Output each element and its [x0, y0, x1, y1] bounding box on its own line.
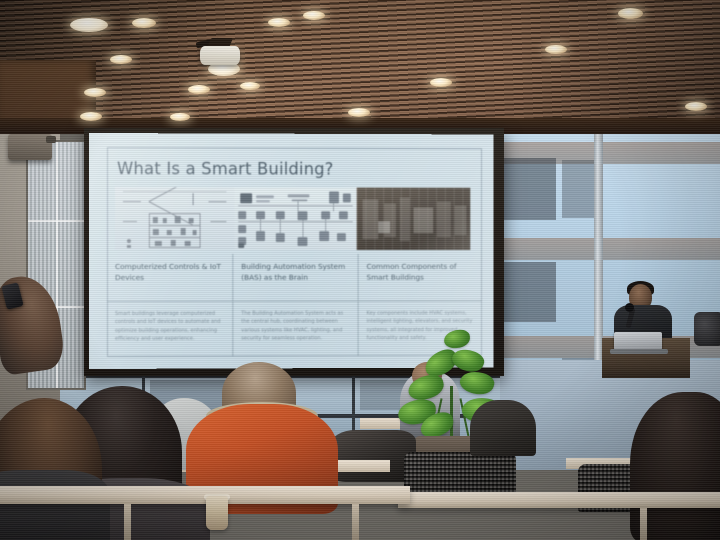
table-leg	[352, 504, 359, 540]
long-table-right	[398, 492, 720, 508]
ceiling-light	[188, 85, 210, 94]
ceiling-light	[303, 11, 325, 20]
ceiling-projector	[200, 46, 240, 65]
coffee-cup	[206, 496, 228, 530]
slide-column: Computerized Controls & IoT Devices Smar…	[107, 254, 233, 357]
laptop-base	[610, 349, 668, 354]
bas-network-diagram	[234, 187, 356, 250]
laptop	[614, 332, 662, 350]
camera-on-tripod	[694, 312, 720, 346]
column-body: Smart buildings leverage computerized co…	[107, 302, 232, 351]
slide-title: What Is a Smart Building?	[117, 159, 334, 178]
column-heading: Building Automation System (BAS) as the …	[233, 254, 357, 302]
column-heading: Common Components of Smart Buildings	[359, 254, 482, 302]
ceiling-light	[430, 78, 452, 87]
ceiling-light	[348, 108, 370, 117]
conference-room-scene: What Is a Smart Building?	[0, 0, 720, 540]
column-heading: Computerized Controls & IoT Devices	[107, 254, 232, 302]
ceiling-light	[84, 88, 106, 97]
presentation-slide: What Is a Smart Building?	[89, 133, 494, 369]
microphone-head	[625, 303, 634, 312]
attendee-foreground-left-body	[0, 470, 110, 540]
ceiling-light	[80, 112, 102, 121]
ceiling-light	[132, 18, 156, 28]
ceiling-light	[268, 18, 290, 27]
ceiling-light	[110, 55, 132, 64]
ceiling-light	[70, 18, 108, 32]
ceiling-light	[618, 8, 643, 19]
lounge-chair	[470, 400, 536, 456]
speaker-bracket	[46, 136, 56, 143]
column-body: The Building Automation System acts as t…	[233, 302, 357, 351]
ceiling-light	[240, 82, 260, 90]
ceiling-light	[545, 45, 567, 54]
ceiling-light	[170, 113, 190, 121]
ceiling-light	[685, 102, 707, 111]
slide-column: Building Automation System (BAS) as the …	[233, 254, 358, 357]
projection-screen: What Is a Smart Building?	[89, 133, 494, 369]
table-leg	[640, 508, 647, 540]
house-cross-section-diagram	[115, 187, 234, 250]
slide-columns-table: Computerized Controls & IoT Devices Smar…	[107, 254, 482, 357]
slide-image-row	[115, 187, 470, 250]
table-leg	[124, 504, 131, 540]
mechanical-room-photo	[357, 188, 471, 250]
